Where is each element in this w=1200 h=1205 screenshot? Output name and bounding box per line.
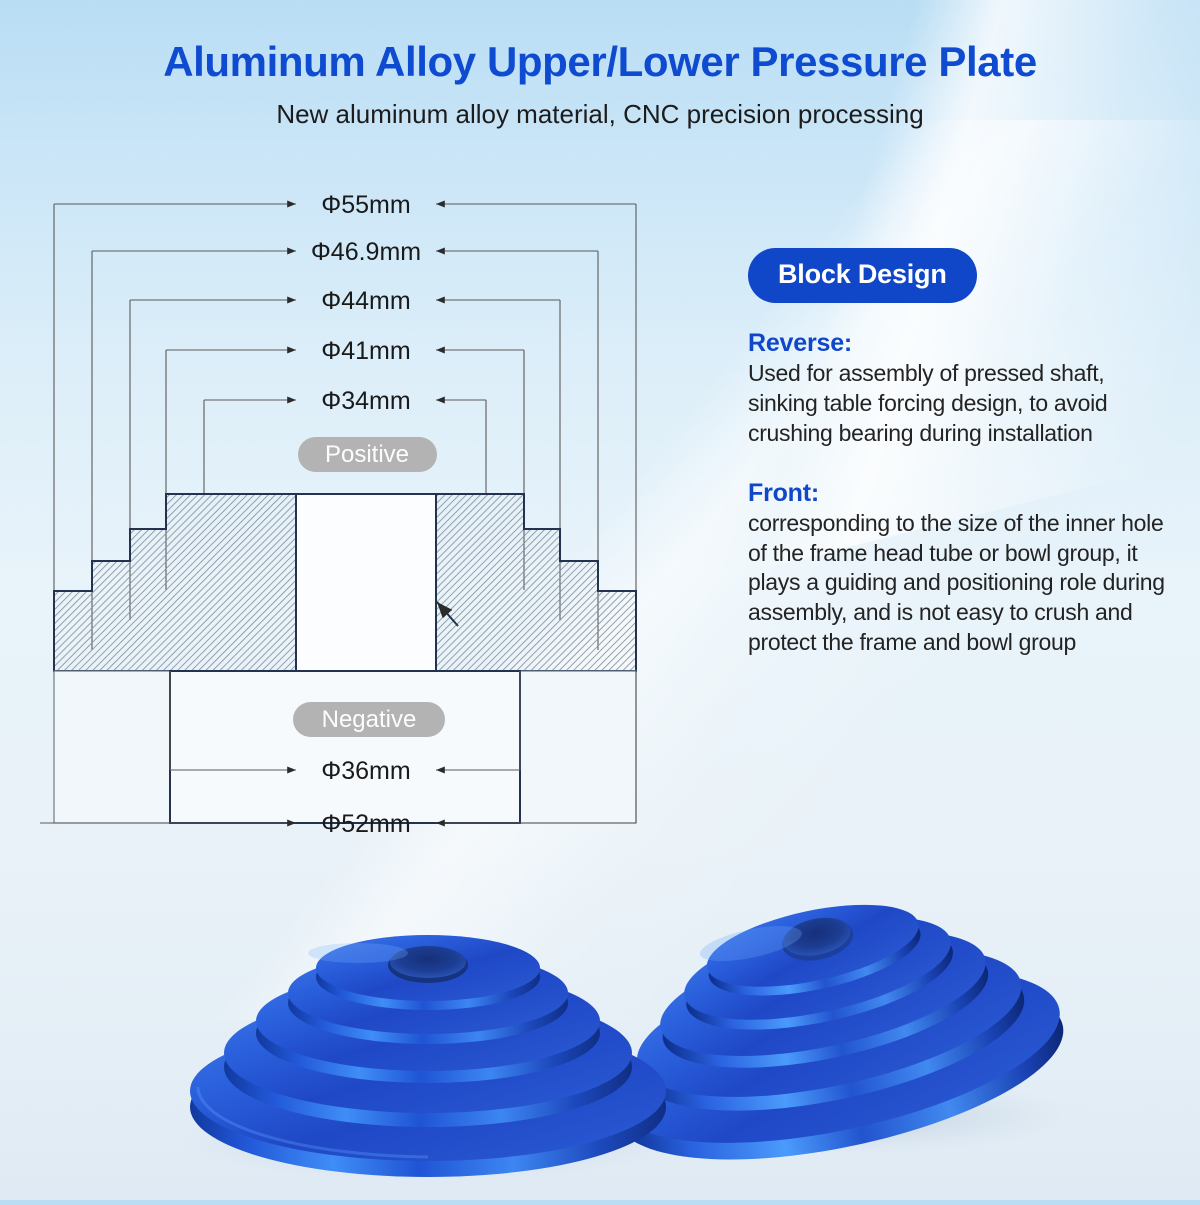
- dim-label-34: Φ34mm: [321, 387, 410, 415]
- negative-badge-label: Negative: [322, 706, 417, 733]
- front-body: corresponding to the size of the inner h…: [748, 509, 1178, 658]
- product-plate-front: [190, 935, 666, 1177]
- dim-label-55: Φ55mm: [321, 191, 410, 219]
- dim-label-36: Φ36mm: [321, 757, 410, 785]
- info-panel: Block Design Reverse: Used for assembly …: [748, 248, 1178, 658]
- reverse-heading: Reverse:: [748, 329, 1178, 358]
- negative-badge: Negative: [293, 702, 445, 737]
- reverse-section: Reverse: Used for assembly of pressed sh…: [748, 329, 1178, 449]
- negative-block-inner: [170, 671, 520, 823]
- front-section: Front: corresponding to the size of the …: [748, 479, 1178, 658]
- page-subtitle: New aluminum alloy material, CNC precisi…: [0, 99, 1200, 130]
- product-plate-tilted: [582, 864, 1078, 1193]
- dim-label-46-9: Φ46.9mm: [311, 238, 421, 266]
- block-design-badge: Block Design: [748, 248, 977, 303]
- page-title: Aluminum Alloy Upper/Lower Pressure Plat…: [0, 38, 1200, 86]
- dim-label-41: Φ41mm: [321, 337, 410, 365]
- technical-drawing: Φ55mm Φ46.9mm Φ44mm Φ41mm Φ34mm Φ36mm Φ5…: [40, 178, 690, 858]
- positive-badge-label: Positive: [325, 441, 409, 468]
- reverse-body: Used for assembly of pressed shaft, sink…: [748, 359, 1178, 449]
- center-bore: [296, 494, 436, 671]
- header: Aluminum Alloy Upper/Lower Pressure Plat…: [0, 0, 1200, 130]
- front-heading: Front:: [748, 479, 1178, 508]
- dim-label-44: Φ44mm: [321, 287, 410, 315]
- positive-badge: Positive: [298, 437, 437, 472]
- product-photos: [0, 820, 1200, 1200]
